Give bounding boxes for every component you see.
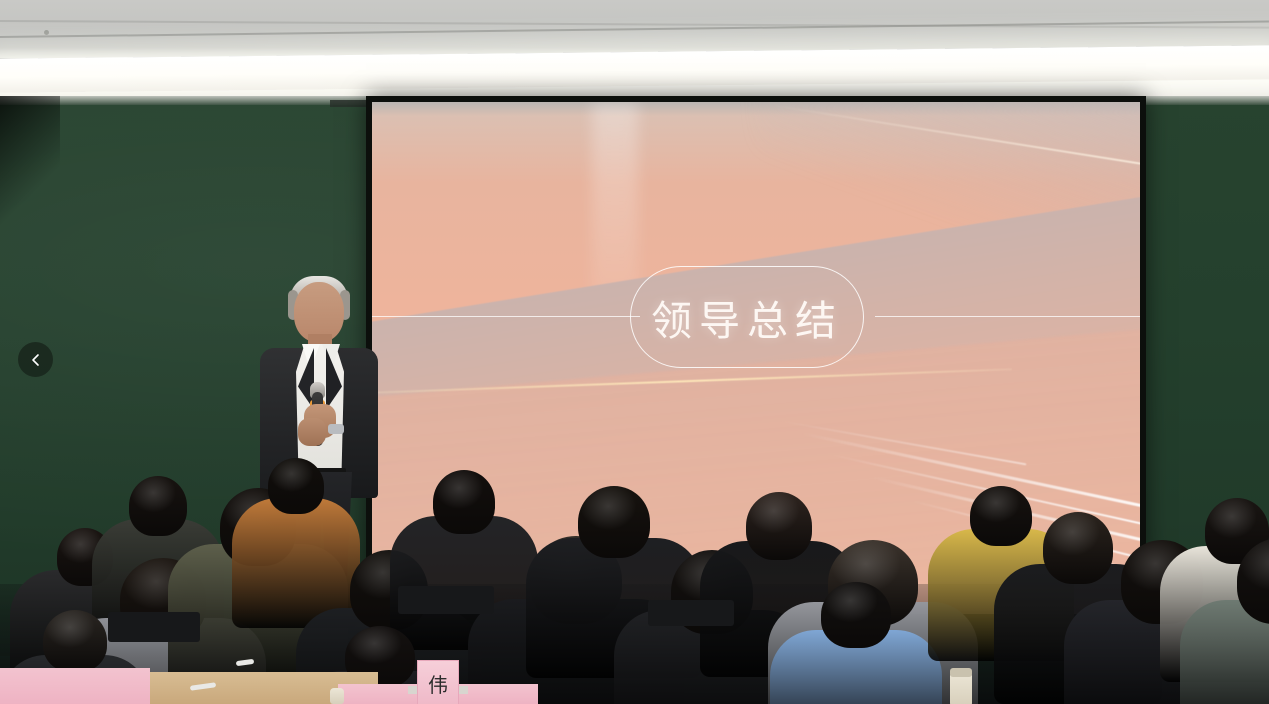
audience-member xyxy=(770,582,942,704)
audience-member-head xyxy=(578,486,650,558)
ceiling xyxy=(0,0,1269,104)
name-card: 伟 xyxy=(417,660,459,704)
speaker-watch xyxy=(328,424,344,434)
audience-member xyxy=(1180,538,1269,704)
pink-desk-pad xyxy=(0,668,150,704)
audience-member-head xyxy=(821,582,891,648)
slide-title: 领导总结 xyxy=(651,287,843,347)
laptop xyxy=(108,612,200,642)
photo-scene: 领导总结 伟 xyxy=(0,0,1269,704)
bottle-cap xyxy=(950,668,972,677)
ceiling-light-strip xyxy=(0,45,1269,93)
previous-button[interactable] xyxy=(18,342,53,377)
chevron-left-icon xyxy=(29,353,43,367)
speaker-head xyxy=(294,282,344,342)
slide-rule-right xyxy=(875,316,1140,317)
ceiling-fixture-dot xyxy=(44,30,49,35)
slide-rule-left xyxy=(372,316,640,317)
corner-shadow xyxy=(0,96,60,226)
laptop xyxy=(398,586,494,614)
audience-member-head xyxy=(433,470,495,534)
audience-member-head xyxy=(268,458,324,514)
water-cup xyxy=(330,688,344,704)
audience-member-head xyxy=(43,610,107,672)
audience-group xyxy=(0,440,1269,704)
slide-title-pill: 领导总结 xyxy=(630,266,864,368)
laptop xyxy=(648,600,734,626)
